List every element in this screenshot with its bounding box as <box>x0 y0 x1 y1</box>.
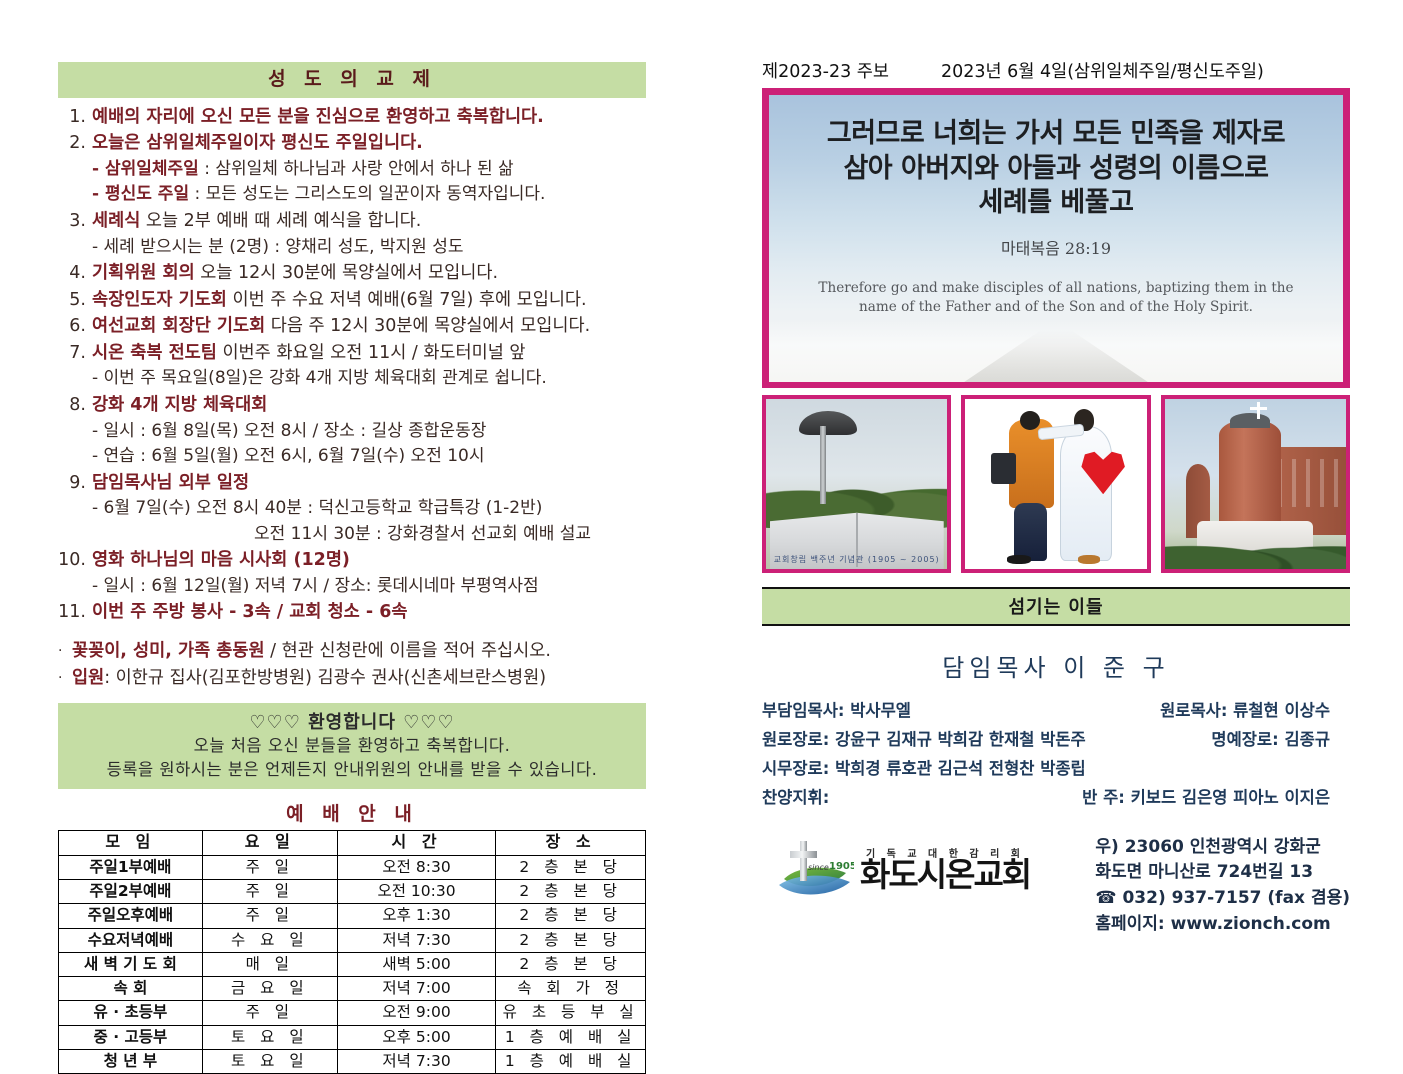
staff-row: 원로장로: 강윤구 김재규 박희감 한재철 박돈주명예장로: 김종규 <box>762 726 1350 755</box>
announcement-highlight: 담임목사님 외부 일정 <box>92 473 249 493</box>
briefcase-icon <box>991 453 1016 484</box>
hero-verse-english-line-1: Therefore go and make disciples of all n… <box>797 279 1315 298</box>
bullet-item: ·입원: 이한규 집사(김포한방병원) 김광수 권사(신촌세브란스병원) <box>58 665 646 693</box>
announcement-subitem: - 연습 : 6월 5일(월) 오전 6시, 6월 7일(수) 오전 10시 <box>58 444 646 470</box>
announcement-item: 5.속장인도자 기도회 이번 주 수요 저녁 예배(6월 7일) 후에 모입니다… <box>58 287 646 314</box>
logo-since-text: since <box>808 863 829 872</box>
staff-row: 시무장로: 박희경 류호관 김근석 전형찬 박종립 <box>762 755 1350 784</box>
hero-verse-line-3: 세례를 베풀고 <box>769 186 1343 221</box>
announcement-detail: 다음 주 12시 30분에 목양실에서 모입니다. <box>265 316 590 336</box>
table-row: 유 · 초등부주 일오전 9:00유 초 등 부 실 <box>59 1001 646 1025</box>
announcement-text: 속장인도자 기도회 이번 주 수요 저녁 예배(6월 7일) 후에 모입니다. <box>92 287 646 314</box>
table-row: 주일오후예배주 일오후 1:302 층 본 당 <box>59 904 646 928</box>
announcement-number: 3. <box>58 208 92 235</box>
hero-verse-line-2: 삼아 아버지와 아들과 성령의 이름으로 <box>769 152 1343 187</box>
table-cell-place: 2 층 본 당 <box>496 855 646 879</box>
announcement-text: 이번 주 주방 봉사 - 3속 / 교회 청소 - 6속 <box>92 599 646 626</box>
announcement-headline: 3.세례식 오늘 2부 예배 때 세례 예식을 합니다. <box>58 208 646 235</box>
man-legs <box>1014 503 1047 561</box>
church-logo-text: 기 독 교 대 한 감 리 회 화도시온교회 <box>860 845 1030 891</box>
bulletin-page: 성 도 의 교 제 1.예배의 자리에 오신 모든 분을 진심으로 환영하고 축… <box>0 0 1403 992</box>
hero-verse-english: Therefore go and make disciples of all n… <box>769 279 1343 318</box>
announcement-subitem: - 이번 주 목요일(8일)은 강화 4개 지방 체육대회 관계로 쉽니다. <box>58 366 646 392</box>
announcement-number: 1. <box>58 104 92 131</box>
announcement-text: 예배의 자리에 오신 모든 분을 진심으로 환영하고 축복합니다. <box>92 104 646 131</box>
table-cell-meet: 청 년 부 <box>59 1050 203 1074</box>
announcement-highlight: 오늘은 삼위일체주일이자 평신도 주일입니다. <box>92 133 423 153</box>
announcement-highlight: 여선교회 회장단 기도회 <box>92 316 265 336</box>
logo-year-text: 1905 <box>829 861 854 872</box>
centennial-monument-photo: 교회창립 백주년 기념관 (1905 ~ 2005) <box>762 395 951 573</box>
footer: since 1905 기 독 교 대 한 감 리 회 화도시온교회 우) 230… <box>762 835 1350 938</box>
table-cell-time: 오전 9:00 <box>337 1001 495 1025</box>
announcement-subitem: - 평신도 주일 : 모든 성도는 그리스도의 일꾼이자 동역자입니다. <box>58 182 646 208</box>
table-cell-time: 저녁 7:30 <box>337 1050 495 1074</box>
staff-row: 찬양지휘:반 주: 키보드 김은영 피아노 이지은 <box>762 784 1350 813</box>
subitem-text: - 일시 : 6월 12일(월) 저녁 7시 / 장소: 롯데시네마 부평역사점 <box>92 576 539 596</box>
table-cell-place: 2 층 본 당 <box>496 928 646 952</box>
church-main-tower <box>1219 419 1281 535</box>
worship-schedule-table: 모 임 요 일 시 간 장 소 주일1부예배주 일오전 8:302 층 본 당주… <box>58 830 646 1074</box>
table-cell-meet: 수요저녁예배 <box>59 928 203 952</box>
bell-pole <box>820 426 826 504</box>
address-line-2: 화도면 마니산로 724번길 13 <box>1095 860 1350 886</box>
table-cell-day: 수 요 일 <box>202 928 337 952</box>
announcement-headline: 1.예배의 자리에 오신 모든 분을 진심으로 환영하고 축복합니다. <box>58 104 646 131</box>
table-cell-meet: 주일1부예배 <box>59 855 203 879</box>
bullet-text: 입원: 이한규 집사(김포한방병원) 김광수 권사(신촌세브란스병원) <box>72 665 546 693</box>
subitem-text: : 모든 성도는 그리스도의 일꾼이자 동역자입니다. <box>189 184 545 204</box>
announcement-number: 6. <box>58 313 92 340</box>
announcement-highlight: 영화 하나님의 마음 시사회 (12명) <box>92 550 350 570</box>
bulletin-number: 제2023-23 주보 <box>762 58 889 83</box>
worship-table-title: 예 배 안 내 <box>58 799 646 826</box>
announcement-detail: 이번주 화요일 오전 11시 / 화도터미널 앞 <box>217 343 526 363</box>
announcement-highlight: 시온 축복 전도팀 <box>92 343 217 363</box>
announcement-number: 8. <box>58 392 92 419</box>
announcement-number: 5. <box>58 287 92 314</box>
subitem-text: - 6월 7일(수) 오전 8시 40분 : 덕신고등학교 학급특강 (1-2반… <box>92 498 542 518</box>
announcement-item: 6.여선교회 회장단 기도회 다음 주 12시 30분에 목양실에서 모입니다. <box>58 313 646 340</box>
announcement-headline: 8.강화 4개 지방 체육대회 <box>58 392 646 419</box>
announcement-headline: 11.이번 주 주방 봉사 - 3속 / 교회 청소 - 6속 <box>58 599 646 626</box>
table-row: 청 년 부토 요 일저녁 7:301 층 예 배 실 <box>59 1050 646 1074</box>
announcement-text: 기획위원 회의 오늘 12시 30분에 목양실에서 모입니다. <box>92 260 646 287</box>
church-dome <box>1230 413 1270 428</box>
announcement-detail: 오늘 12시 30분에 목양실에서 모입니다. <box>195 263 498 283</box>
col-header-day: 요 일 <box>202 830 337 855</box>
extra-bullet-list: ·꽃꽂이, 성미, 가족 총동원 / 현관 신청란에 이름을 적어 주십시오.·… <box>58 638 646 693</box>
announcement-text: 영화 하나님의 마음 시사회 (12명) <box>92 547 646 574</box>
bullet-detail: : 이한규 집사(김포한방병원) 김광수 권사(신촌세브란스병원) <box>104 668 546 688</box>
col-header-place: 장 소 <box>496 830 646 855</box>
staff-left-text: 시무장로: 박희경 류호관 김근석 전형찬 박종립 <box>762 755 1086 784</box>
announcement-subitem: - 일시 : 6월 12일(월) 저녁 7시 / 장소: 롯데시네마 부평역사점 <box>58 574 646 600</box>
staff-right-text: 명예장로: 김종규 <box>1211 726 1350 755</box>
announcement-highlight: 예배의 자리에 오신 모든 분을 진심으로 환영하고 축복합니다. <box>92 107 544 127</box>
hero-verse-line-1: 그러므로 너희는 가서 모든 민족을 제자로 <box>769 117 1343 152</box>
staff-left-text: 원로장로: 강윤구 김재규 박희감 한재철 박돈주 <box>762 726 1086 755</box>
announcement-text: 오늘은 삼위일체주일이자 평신도 주일입니다. <box>92 130 646 157</box>
table-cell-time: 저녁 7:30 <box>337 928 495 952</box>
table-cell-place: 속 회 가 정 <box>496 977 646 1001</box>
table-row: 수요저녁예배수 요 일저녁 7:302 층 본 당 <box>59 928 646 952</box>
announcement-text: 담임목사님 외부 일정 <box>92 470 646 497</box>
welcome-line-2: 등록을 원하시는 분은 언제든지 안내위원의 안내를 받을 수 있습니다. <box>58 758 646 782</box>
table-cell-meet: 중 · 고등부 <box>59 1025 203 1049</box>
garden-bushes <box>1165 532 1346 569</box>
bullet-detail: / 현관 신청란에 이름을 적어 주십시오. <box>265 641 551 661</box>
announcement-headline: 4.기획위원 회의 오늘 12시 30분에 목양실에서 모입니다. <box>58 260 646 287</box>
announcement-item: 7.시온 축복 전도팀 이번주 화요일 오전 11시 / 화도터미널 앞- 이번… <box>58 340 646 392</box>
announcement-highlight: 속장인도자 기도회 <box>92 290 227 310</box>
announcement-item: 2.오늘은 삼위일체주일이자 평신도 주일입니다.- 삼위일체주일 : 삼위일체… <box>58 130 646 208</box>
announcement-item: 10.영화 하나님의 마음 시사회 (12명)- 일시 : 6월 12일(월) … <box>58 547 646 599</box>
table-cell-place: 유 초 등 부 실 <box>496 1001 646 1025</box>
hero-road-background <box>769 320 1343 382</box>
table-cell-day: 주 일 <box>202 880 337 904</box>
table-cell-place: 2 층 본 당 <box>496 952 646 976</box>
table-cell-time: 오전 10:30 <box>337 880 495 904</box>
bulletin-date: 2023년 6월 4일(삼위일체주일/평신도주일) <box>941 58 1264 83</box>
announcement-text: 여선교회 회장단 기도회 다음 주 12시 30분에 목양실에서 모입니다. <box>92 313 646 340</box>
announcement-number: 7. <box>58 340 92 367</box>
table-cell-day: 주 일 <box>202 1001 337 1025</box>
table-cell-time: 저녁 7:00 <box>337 977 495 1001</box>
announcement-headline: 10.영화 하나님의 마음 시사회 (12명) <box>58 547 646 574</box>
announcement-subitem: 오전 11시 30분 : 강화경찰서 선교회 예배 설교 <box>58 522 646 548</box>
announcement-list: 1.예배의 자리에 오신 모든 분을 진심으로 환영하고 축복합니다.2.오늘은… <box>58 104 646 626</box>
table-cell-day: 주 일 <box>202 904 337 928</box>
staff-row: 부담임목사: 박사무엘원로목사: 류철현 이상수 <box>762 697 1350 726</box>
staff-right-text: 반 주: 키보드 김은영 피아노 이지은 <box>1082 784 1350 813</box>
announcement-item: 3.세례식 오늘 2부 예배 때 세례 예식을 합니다.- 세례 받으시는 분 … <box>58 208 646 260</box>
announcement-item: 11.이번 주 주방 봉사 - 3속 / 교회 청소 - 6속 <box>58 599 646 626</box>
announcement-number: 4. <box>58 260 92 287</box>
photo-row: 교회창립 백주년 기념관 (1905 ~ 2005) <box>762 395 1350 573</box>
subitem-text: - 세례 받으시는 분 (2명) : 양채리 성도, 박지원 성도 <box>92 237 464 257</box>
table-cell-day: 금 요 일 <box>202 977 337 1001</box>
table-row: 새 벽 기 도 회매 일새벽 5:002 층 본 당 <box>59 952 646 976</box>
jesus-robe <box>1060 426 1113 561</box>
logo-svg: since 1905 <box>776 835 854 901</box>
bullet-dot-icon: · <box>58 665 72 692</box>
table-cell-place: 2 층 본 당 <box>496 904 646 928</box>
hero-verse-korean: 그러므로 너희는 가서 모든 민족을 제자로 삼아 아버지와 아들과 성령의 이… <box>769 95 1343 221</box>
fellowship-section-title: 성 도 의 교 제 <box>58 62 646 98</box>
bullet-dot-icon: · <box>58 638 72 665</box>
table-cell-time: 오전 8:30 <box>337 855 495 879</box>
table-cell-meet: 새 벽 기 도 회 <box>59 952 203 976</box>
announcement-number: 2. <box>58 130 92 157</box>
subitem-text: - 이번 주 목요일(8일)은 강화 4개 지방 체육대회 관계로 쉽니다. <box>92 368 547 388</box>
subitem-text: 오전 11시 30분 : 강화경찰서 선교회 예배 설교 <box>254 524 591 544</box>
staff-left-text: 부담임목사: 박사무엘 <box>762 697 911 726</box>
staff-right-text <box>1330 755 1350 784</box>
subitem-text: - 일시 : 6월 8일(목) 오전 8시 / 장소 : 길상 종합운동장 <box>92 421 486 441</box>
table-cell-day: 매 일 <box>202 952 337 976</box>
right-column: 제2023-23 주보 2023년 6월 4일(삼위일체주일/평신도주일) 그러… <box>762 58 1350 938</box>
table-cell-time: 새벽 5:00 <box>337 952 495 976</box>
man-shoe <box>1007 555 1031 564</box>
phone-line: ☎ 032) 937-7157 (fax 겸용) <box>1095 886 1350 912</box>
table-cell-place: 2 층 본 당 <box>496 880 646 904</box>
announcement-item: 8.강화 4개 지방 체육대회- 일시 : 6월 8일(목) 오전 8시 / 장… <box>58 392 646 470</box>
church-logo: since 1905 기 독 교 대 한 감 리 회 화도시온교회 <box>762 835 1030 901</box>
table-cell-day: 토 요 일 <box>202 1025 337 1049</box>
welcome-line-1: 오늘 처음 오신 분들을 환영하고 축복합니다. <box>58 734 646 758</box>
announcement-number: 10. <box>58 547 92 574</box>
announcement-highlight: 기획위원 회의 <box>92 263 195 283</box>
announcement-item: 9.담임목사님 외부 일정- 6월 7일(수) 오전 8시 40분 : 덕신고등… <box>58 470 646 548</box>
announcement-headline: 5.속장인도자 기도회 이번 주 수요 저녁 예배(6월 7일) 후에 모입니다… <box>58 287 646 314</box>
man-head <box>1020 411 1040 430</box>
table-cell-time: 오후 5:00 <box>337 1025 495 1049</box>
col-header-time: 시 간 <box>337 830 495 855</box>
left-column: 성 도 의 교 제 1.예배의 자리에 오신 모든 분을 진심으로 환영하고 축… <box>58 62 646 1074</box>
announcement-text: 시온 축복 전도팀 이번주 화요일 오전 11시 / 화도터미널 앞 <box>92 340 646 367</box>
table-row: 주일2부예배주 일오전 10:302 층 본 당 <box>59 880 646 904</box>
church-address: 우) 23060 인천광역시 강화군 화도면 마니산로 724번길 13 ☎ 0… <box>1095 835 1350 938</box>
announcement-headline: 7.시온 축복 전도팀 이번주 화요일 오전 11시 / 화도터미널 앞 <box>58 340 646 367</box>
church-name-label: 화도시온교회 <box>860 858 1030 891</box>
servants-section-title: 섬기는 이들 <box>762 587 1350 626</box>
subitem-highlight: - 평신도 주일 <box>92 184 189 204</box>
bullet-item: ·꽃꽂이, 성미, 가족 총동원 / 현관 신청란에 이름을 적어 주십시오. <box>58 638 646 666</box>
announcement-highlight: 이번 주 주방 봉사 - 3속 / 교회 청소 - 6속 <box>92 602 408 622</box>
bullet-text: 꽃꽂이, 성미, 가족 총동원 / 현관 신청란에 이름을 적어 주십시오. <box>72 638 551 666</box>
announcement-highlight: 강화 4개 지방 체육대회 <box>92 395 267 415</box>
church-building-photo <box>1161 395 1350 573</box>
church-logo-mark: since 1905 <box>776 835 854 901</box>
table-cell-meet: 유 · 초등부 <box>59 1001 203 1025</box>
table-cell-meet: 속 회 <box>59 977 203 1001</box>
subitem-text: : 삼위일체 하나님과 사랑 안에서 하나 된 삶 <box>199 159 514 179</box>
jesus-sandal <box>1078 555 1100 564</box>
subitem-highlight: - 삼위일체주일 <box>92 159 199 179</box>
table-cell-time: 오후 1:30 <box>337 904 495 928</box>
monument-caption: 교회창립 백주년 기념관 (1905 ~ 2005) <box>770 554 944 565</box>
announcement-subitem: - 6월 7일(수) 오전 8시 40분 : 덕신고등학교 학급특강 (1-2반… <box>58 496 646 522</box>
announcement-detail: 이번 주 수요 저녁 예배(6월 7일) 후에 모입니다. <box>227 290 587 310</box>
announcement-subitem: - 일시 : 6월 8일(목) 오전 8시 / 장소 : 길상 종합운동장 <box>58 419 646 445</box>
hero-verse-image: 그러므로 너희는 가서 모든 민족을 제자로 삼아 아버지와 아들과 성령의 이… <box>762 88 1350 388</box>
announcement-text: 강화 4개 지방 체육대회 <box>92 392 646 419</box>
staff-right-text: 원로목사: 류철현 이상수 <box>1160 697 1350 726</box>
announcement-subitem: - 세례 받으시는 분 (2명) : 양채리 성도, 박지원 성도 <box>58 235 646 261</box>
bulletin-header: 제2023-23 주보 2023년 6월 4일(삼위일체주일/평신도주일) <box>762 58 1350 88</box>
table-cell-place: 1 층 예 배 실 <box>496 1050 646 1074</box>
announcement-headline: 2.오늘은 삼위일체주일이자 평신도 주일입니다. <box>58 130 646 157</box>
bell-icon <box>799 411 857 435</box>
col-header-meeting: 모 임 <box>59 830 203 855</box>
announcement-number: 11. <box>58 599 92 626</box>
cross-icon <box>1257 402 1260 419</box>
table-row: 속 회금 요 일저녁 7:00속 회 가 정 <box>59 977 646 1001</box>
announcement-subitem: - 삼위일체주일 : 삼위일체 하나님과 사랑 안에서 하나 된 삶 <box>58 157 646 183</box>
table-cell-day: 주 일 <box>202 855 337 879</box>
table-header-row: 모 임 요 일 시 간 장 소 <box>59 830 646 855</box>
announcement-number: 9. <box>58 470 92 497</box>
announcement-text: 세례식 오늘 2부 예배 때 세례 예식을 합니다. <box>92 208 646 235</box>
hero-verse-reference: 마태복음 28:19 <box>769 235 1343 259</box>
announcement-item: 1.예배의 자리에 오신 모든 분을 진심으로 환영하고 축복합니다. <box>58 104 646 131</box>
announcement-detail: 오늘 2부 예배 때 세례 예식을 합니다. <box>140 211 421 231</box>
website-line: 홈페이지: www.zionch.com <box>1095 912 1350 938</box>
welcome-title: ♡♡♡ 환영합니다 ♡♡♡ <box>58 708 646 734</box>
senior-pastor-name: 담임목사 이 준 구 <box>762 648 1350 683</box>
staff-list: 부담임목사: 박사무엘원로목사: 류철현 이상수원로장로: 강윤구 김재규 박희… <box>762 697 1350 813</box>
table-cell-meet: 주일2부예배 <box>59 880 203 904</box>
subitem-text: - 연습 : 6월 5일(월) 오전 6시, 6월 7일(수) 오전 10시 <box>92 446 485 466</box>
bullet-highlight: 꽃꽂이, 성미, 가족 총동원 <box>72 641 265 661</box>
announcement-headline: 9.담임목사님 외부 일정 <box>58 470 646 497</box>
table-cell-meet: 주일오후예배 <box>59 904 203 928</box>
welcome-box: ♡♡♡ 환영합니다 ♡♡♡ 오늘 처음 오신 분들을 환영하고 축복합니다. 등… <box>58 703 646 789</box>
table-row: 주일1부예배주 일오전 8:302 층 본 당 <box>59 855 646 879</box>
jesus-illustration-photo <box>961 395 1150 573</box>
table-cell-place: 1 층 예 배 실 <box>496 1025 646 1049</box>
table-row: 중 · 고등부토 요 일오후 5:001 층 예 배 실 <box>59 1025 646 1049</box>
announcement-item: 4.기획위원 회의 오늘 12시 30분에 목양실에서 모입니다. <box>58 260 646 287</box>
table-cell-day: 토 요 일 <box>202 1050 337 1074</box>
hero-verse-english-line-2: name of the Father and of the Son and of… <box>797 298 1315 317</box>
bullet-highlight: 입원 <box>72 668 104 688</box>
address-line-1: 우) 23060 인천광역시 강화군 <box>1095 835 1350 861</box>
announcement-highlight: 세례식 <box>92 211 140 231</box>
announcement-headline: 6.여선교회 회장단 기도회 다음 주 12시 30분에 목양실에서 모입니다. <box>58 313 646 340</box>
staff-left-text: 찬양지휘: <box>762 784 829 813</box>
